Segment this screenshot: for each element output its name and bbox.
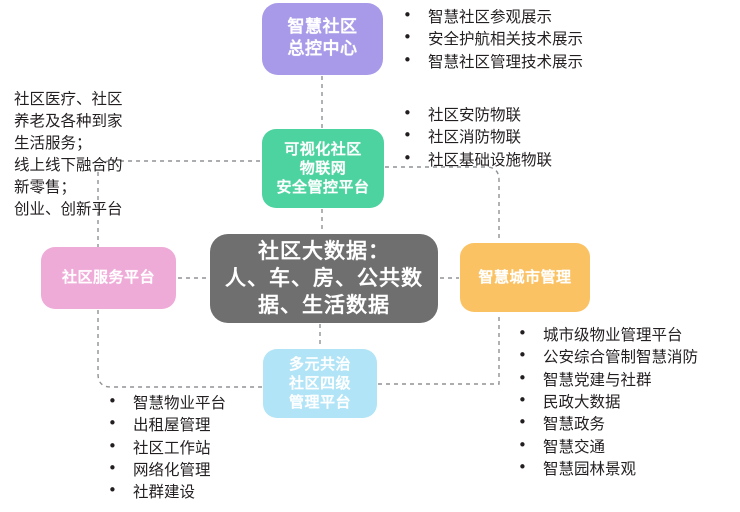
list-item: 智慧园林景观 bbox=[515, 458, 698, 480]
smart-community-diagram: 智慧社区 总控中心 可视化社区 物联网 安全管控平台 社区大数据： 人、车、房、… bbox=[0, 0, 740, 512]
list-item: 智慧社区管理技术展示 bbox=[400, 51, 583, 73]
list-item: 智慧交通 bbox=[515, 436, 698, 458]
node-big-data[interactable]: 社区大数据： 人、车、房、公共数 据、生活数据 bbox=[210, 234, 438, 323]
list-item: 社区安防物联 bbox=[400, 104, 552, 126]
list-item: 安全护航相关技术展示 bbox=[400, 28, 583, 50]
node-governance-platform-label: 多元共治 社区四级 管理平台 bbox=[289, 355, 351, 413]
connector-arc-governance-city bbox=[378, 313, 499, 384]
node-governance-platform[interactable]: 多元共治 社区四级 管理平台 bbox=[263, 349, 377, 418]
node-service-platform[interactable]: 社区服务平台 bbox=[41, 247, 176, 309]
bullet-list-city-management: 城市级物业管理平台 公安综合管制智慧消防 智慧党建与社群 民政大数据 智慧政务 … bbox=[515, 324, 698, 480]
node-service-platform-label: 社区服务平台 bbox=[62, 268, 155, 287]
node-iot-platform[interactable]: 可视化社区 物联网 安全管控平台 bbox=[262, 129, 384, 208]
node-control-center[interactable]: 智慧社区 总控中心 bbox=[262, 3, 383, 75]
node-big-data-label: 社区大数据： 人、车、房、公共数 据、生活数据 bbox=[225, 238, 423, 319]
list-item: 智慧社区参观展示 bbox=[400, 6, 583, 28]
list-item: 公安综合管制智慧消防 bbox=[515, 346, 698, 368]
list-item: 社区工作站 bbox=[105, 437, 226, 459]
bullet-list-control-center: 智慧社区参观展示 安全护航相关技术展示 智慧社区管理技术展示 bbox=[400, 6, 583, 73]
bullet-list-governance-platform: 智慧物业平台 出租屋管理 社区工作站 网络化管理 社群建设 bbox=[105, 392, 226, 504]
list-item: 社群建设 bbox=[105, 481, 226, 503]
list-item: 智慧党建与社群 bbox=[515, 369, 698, 391]
node-city-management-label: 智慧城市管理 bbox=[478, 268, 571, 287]
list-item: 民政大数据 bbox=[515, 391, 698, 413]
list-item: 城市级物业管理平台 bbox=[515, 324, 698, 346]
list-item: 社区消防物联 bbox=[400, 126, 552, 148]
node-control-center-label: 智慧社区 总控中心 bbox=[288, 17, 358, 61]
node-iot-platform-label: 可视化社区 物联网 安全管控平台 bbox=[276, 140, 369, 198]
bullet-list-iot-platform: 社区安防物联 社区消防物联 社区基础设施物联 bbox=[400, 104, 552, 171]
note-service-platform: 社区医疗、社区 养老及各种到家 生活服务； 线上线下融合的 新零售； 创业、创新… bbox=[14, 88, 209, 220]
connector-arc-iot-city bbox=[385, 167, 499, 242]
list-item: 社区基础设施物联 bbox=[400, 149, 552, 171]
list-item: 出租屋管理 bbox=[105, 414, 226, 436]
list-item: 网络化管理 bbox=[105, 459, 226, 481]
node-city-management[interactable]: 智慧城市管理 bbox=[460, 243, 590, 312]
list-item: 智慧物业平台 bbox=[105, 392, 226, 414]
list-item: 智慧政务 bbox=[515, 413, 698, 435]
